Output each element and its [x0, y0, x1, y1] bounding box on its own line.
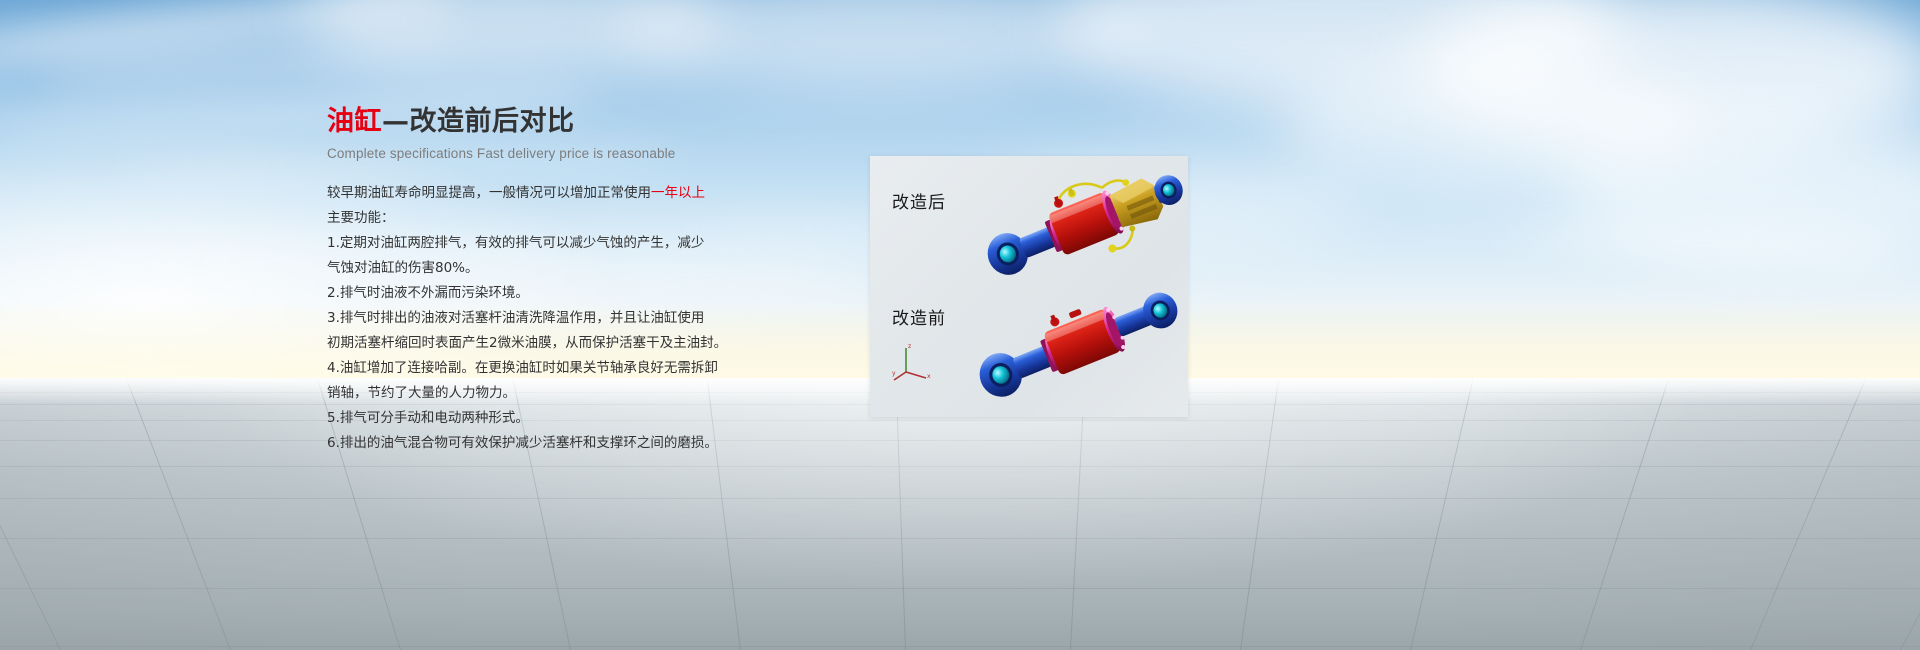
cylinder-before-modification — [968, 278, 1186, 406]
body-line-text: 2.排气时油液不外漏而污染环境。 — [327, 285, 529, 301]
body-line: 3.排气时排出的油液对活塞杆油清洗降温作用，并且让油缸使用 — [327, 306, 757, 331]
body-line-text: 较早期油缸寿命明显提高，一般情况可以增加正常使用 — [327, 185, 651, 201]
body-line: 主要功能： — [327, 206, 757, 231]
product-image-panel: 改造后 改造前 — [870, 156, 1188, 417]
body-line: 销轴，节约了大量的人力物力。 — [327, 381, 757, 406]
svg-text:x: x — [927, 373, 931, 380]
body-line: 初期活塞杆缩回时表面产生2微米油膜，从而保护活塞干及主油封。 — [327, 331, 757, 356]
text-block: 油缸—改造前后对比 Complete specifications Fast d… — [327, 107, 757, 456]
page-subtitle: Complete specifications Fast delivery pr… — [327, 146, 757, 161]
body-line: 4.油缸增加了连接哈副。在更换油缸时如果关节轴承良好无需拆卸 — [327, 356, 757, 381]
body-line: 气蚀对油缸的伤害80%。 — [327, 256, 757, 281]
svg-text:y: y — [892, 370, 896, 377]
body-line-text: 3.排气时排出的油液对活塞杆油清洗降温作用，并且让油缸使用 — [327, 310, 704, 326]
body-line-text: 气蚀对油缸的伤害80%。 — [327, 260, 479, 276]
body-line: 6.排出的油气混合物可有效保护减少活塞杆和支撑环之间的磨损。 — [327, 431, 757, 456]
label-after-modification: 改造后 — [892, 188, 946, 213]
title-rest: —改造前后对比 — [382, 106, 575, 137]
body-line-accent: 一年以上 — [651, 185, 705, 201]
body-line: 较早期油缸寿命明显提高，一般情况可以增加正常使用一年以上 — [327, 181, 757, 206]
body-line-text: 主要功能： — [327, 210, 395, 226]
label-before-modification: 改造前 — [892, 304, 946, 329]
svg-text:z: z — [908, 343, 911, 350]
body-line-text: 4.油缸增加了连接哈副。在更换油缸时如果关节轴承良好无需拆卸 — [327, 360, 718, 376]
body-line: 5.排气可分手动和电动两种形式。 — [327, 406, 757, 431]
ground-pavement — [0, 378, 1920, 650]
body-line-text: 5.排气可分手动和电动两种形式。 — [327, 410, 529, 426]
body-line-text: 6.排出的油气混合物可有效保护减少活塞杆和支撑环之间的磨损。 — [327, 435, 718, 451]
body-line-text: 销轴，节约了大量的人力物力。 — [327, 385, 516, 401]
title-highlight: 油缸 — [327, 106, 382, 137]
body-line-text: 初期活塞杆缩回时表面产生2微米油膜，从而保护活塞干及主油封。 — [327, 335, 727, 351]
body-line: 2.排气时油液不外漏而污染环境。 — [327, 281, 757, 306]
page-title: 油缸—改造前后对比 — [327, 107, 757, 137]
cylinder-after-modification — [978, 164, 1186, 284]
body-line-text: 1.定期对油缸两腔排气，有效的排气可以减少气蚀的产生，减少 — [327, 235, 704, 251]
body-line: 1.定期对油缸两腔排气，有效的排气可以减少气蚀的产生，减少 — [327, 231, 757, 256]
banner-stage: 油缸—改造前后对比 Complete specifications Fast d… — [0, 0, 1920, 650]
coordinate-axis-icon: z x y — [892, 342, 936, 382]
body-copy: 较早期油缸寿命明显提高，一般情况可以增加正常使用一年以上 主要功能： 1.定期对… — [327, 181, 757, 456]
